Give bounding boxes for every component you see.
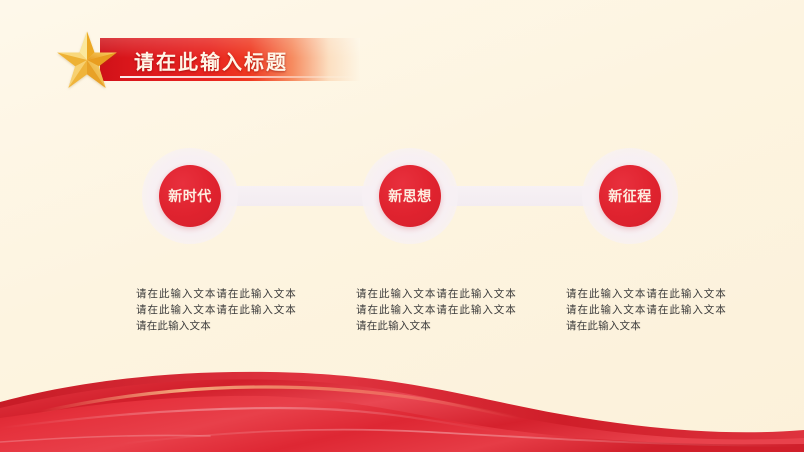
red-silk-ribbon (0, 356, 804, 452)
node-label-3: 新征程 (608, 186, 652, 206)
ribbon-layer-mid (0, 379, 804, 452)
ribbon-highlight-white-2 (120, 430, 804, 446)
column-body-1: 请在此输入文本请在此输入文本请在此输入文本请在此输入文本请在此输入文本 (136, 286, 296, 334)
page-title: 请在此输入标题 (134, 46, 288, 75)
slide-canvas: 请在此输入标题 新时代 新思想 新征程 请在此输入文本请在此输入文本请在此输 (0, 0, 804, 452)
flow-node-3[interactable]: 新征程 (582, 148, 678, 244)
five-pointed-star-icon (56, 30, 118, 90)
text-columns: 请在此输入文本请在此输入文本请在此输入文本请在此输入文本请在此输入文本 请在此输… (0, 286, 804, 366)
ribbon-highlight-white-1 (0, 408, 500, 432)
flow-node-2[interactable]: 新思想 (362, 148, 458, 244)
ribbon-layer-front (0, 396, 804, 452)
node-disc[interactable]: 新思想 (379, 165, 441, 227)
node-disc[interactable]: 新时代 (159, 165, 221, 227)
flow-diagram: 新时代 新思想 新征程 (0, 148, 804, 244)
ribbon-layer-back (0, 372, 804, 452)
text-column-3: 请在此输入文本请在此输入文本请在此输入文本请在此输入文本请在此输入文本 (566, 286, 726, 334)
banner-underline (120, 76, 358, 78)
column-body-3: 请在此输入文本请在此输入文本请在此输入文本请在此输入文本请在此输入文本 (566, 286, 726, 334)
node-label-1: 新时代 (168, 186, 212, 206)
text-column-2: 请在此输入文本请在此输入文本请在此输入文本请在此输入文本请在此输入文本 (356, 286, 516, 334)
text-column-1: 请在此输入文本请在此输入文本请在此输入文本请在此输入文本请在此输入文本 (136, 286, 296, 334)
ribbon-fold-left (0, 435, 210, 442)
ribbon-highlight-gold (40, 387, 520, 418)
slide-header: 请在此输入标题 (56, 24, 376, 88)
node-label-2: 新思想 (388, 186, 432, 206)
column-body-2: 请在此输入文本请在此输入文本请在此输入文本请在此输入文本请在此输入文本 (356, 286, 516, 334)
node-disc[interactable]: 新征程 (599, 165, 661, 227)
flow-node-1[interactable]: 新时代 (142, 148, 238, 244)
